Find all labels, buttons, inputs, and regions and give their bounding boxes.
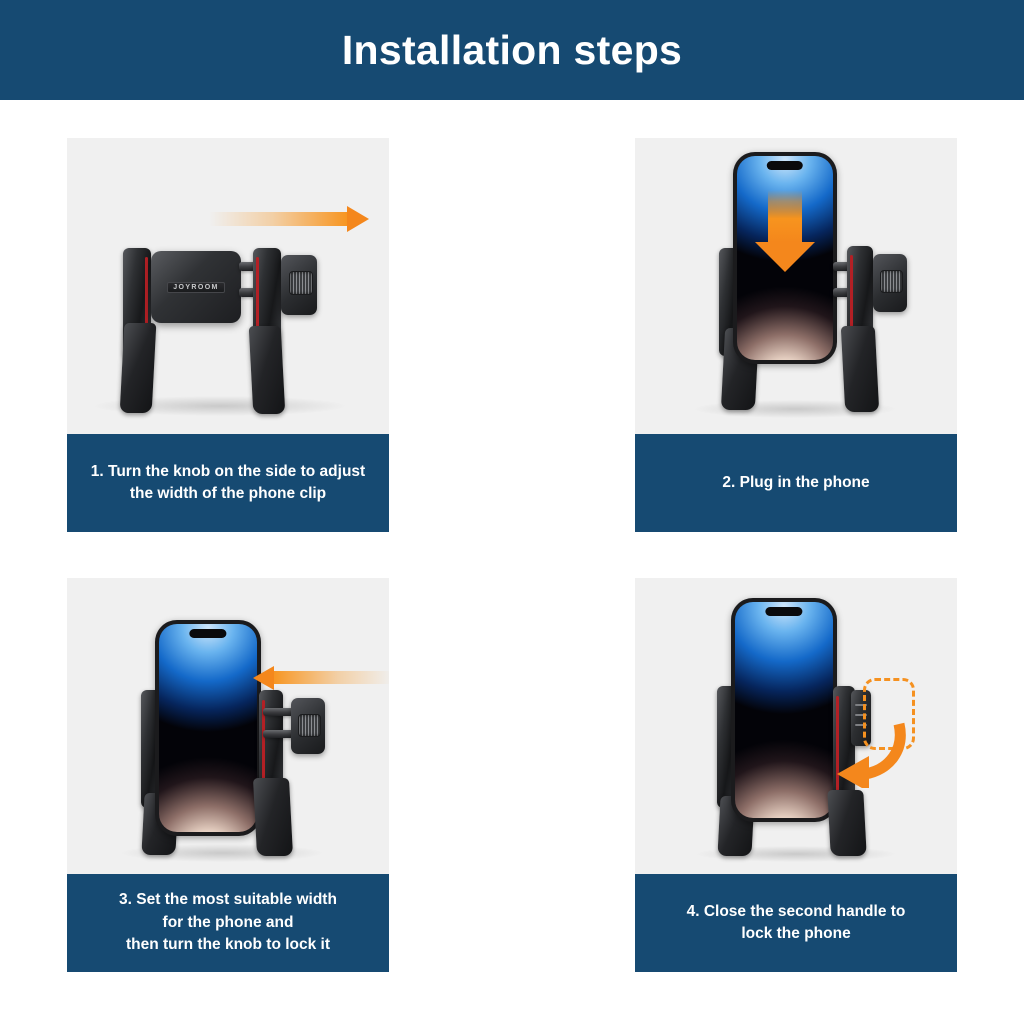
step-card-1: JOYROOM 1. Turn the knob on the side to … <box>67 138 389 532</box>
phone-notch-icon <box>767 161 803 170</box>
caption-line: 4. Close the second handle to <box>687 901 906 923</box>
steps-grid: JOYROOM 1. Turn the knob on the side to … <box>0 100 1024 1024</box>
caption-line: lock the phone <box>741 923 850 945</box>
phone-notch-icon <box>765 607 802 616</box>
caption-line: then turn the knob to lock it <box>126 934 330 956</box>
caption-line: 1. Turn the knob on the side to adjust <box>91 461 365 483</box>
phone-device <box>731 598 837 822</box>
holder-foot-right <box>841 326 880 412</box>
arrow-left-icon <box>253 666 389 690</box>
phone-device <box>155 620 261 836</box>
step-3-illustration <box>67 578 389 874</box>
adjustment-knob[interactable] <box>880 270 903 293</box>
step-4-caption: 4. Close the second handle to lock the p… <box>635 874 957 972</box>
holder-foot-right <box>249 326 286 414</box>
caption-line: the width of the phone clip <box>130 483 326 505</box>
holder-backplate: JOYROOM <box>151 251 241 323</box>
step-4-illustration <box>635 578 957 874</box>
arrow-rotate-icon <box>821 718 911 788</box>
caption-line: 3. Set the most suitable width <box>119 889 337 911</box>
page-title: Installation steps <box>342 30 682 71</box>
step-card-3: 3. Set the most suitable width for the p… <box>67 578 389 972</box>
adjustment-knob[interactable] <box>289 271 313 295</box>
phone-notch-icon <box>189 629 226 638</box>
step-1-illustration: JOYROOM <box>67 138 389 434</box>
step-1-caption: 1. Turn the knob on the side to adjust t… <box>67 434 389 532</box>
phone-screen <box>159 624 257 832</box>
step-card-4: 4. Close the second handle to lock the p… <box>635 578 957 972</box>
step-2-caption: 2. Plug in the phone <box>635 434 957 532</box>
phone-screen <box>735 602 833 818</box>
arrow-down-icon <box>755 190 815 272</box>
caption-line: 2. Plug in the phone <box>722 472 869 494</box>
step-3-caption: 3. Set the most suitable width for the p… <box>67 874 389 972</box>
rotate-arrow-svg <box>821 718 911 788</box>
caption-line: for the phone and <box>163 912 294 934</box>
arrow-right-icon <box>209 206 369 232</box>
brand-logo: JOYROOM <box>167 282 225 293</box>
holder-foot-right <box>253 778 293 856</box>
step-card-2: 2. Plug in the phone <box>635 138 957 532</box>
holder-foot-left <box>120 323 157 413</box>
adjustment-knob[interactable] <box>298 714 321 737</box>
page-header: Installation steps <box>0 0 1024 100</box>
step-2-illustration <box>635 138 957 434</box>
holder-foot-right <box>827 790 866 856</box>
